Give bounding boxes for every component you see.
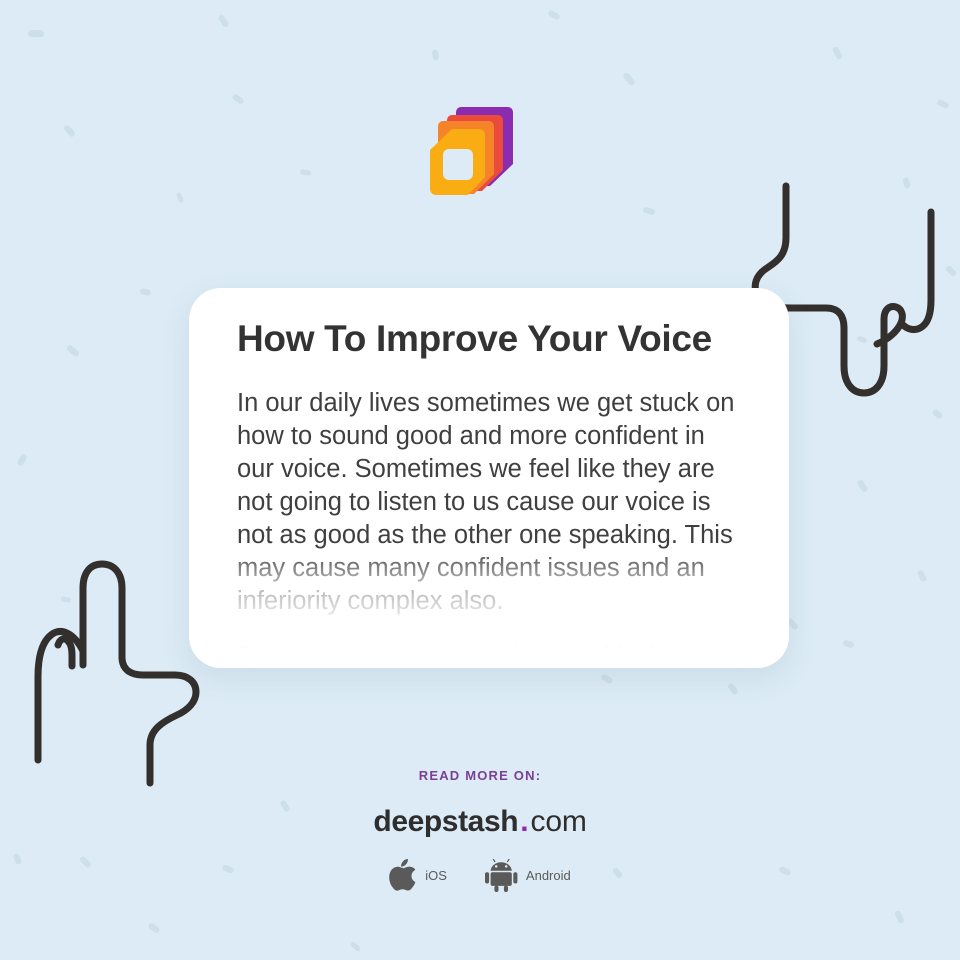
- confetti-speck: [600, 673, 613, 684]
- confetti-speck: [176, 192, 184, 203]
- ios-store-badge[interactable]: iOS: [389, 859, 447, 892]
- confetti-speck: [917, 569, 928, 582]
- confetti-speck: [350, 941, 362, 952]
- apple-icon: [389, 859, 417, 892]
- confetti-speck: [842, 639, 854, 648]
- story-card[interactable]: How To Improve Your Voice In our daily l…: [189, 288, 789, 668]
- story-card-content: How To Improve Your Voice In our daily l…: [189, 288, 789, 668]
- story-paragraph-1: In our daily lives sometimes we get stuc…: [237, 387, 745, 618]
- confetti-speck: [832, 46, 844, 60]
- confetti-speck: [856, 335, 867, 343]
- deepstash-logo-icon: [428, 104, 520, 200]
- confetti-speck: [61, 596, 72, 603]
- ios-label: iOS: [425, 868, 447, 883]
- footer: READ MORE ON: deepstash.com iOS: [0, 768, 960, 892]
- confetti-speck: [432, 49, 440, 61]
- confetti-speck: [139, 288, 151, 296]
- confetti-speck: [945, 265, 958, 278]
- confetti-speck: [16, 453, 27, 466]
- confetti-speck: [547, 9, 560, 20]
- confetti-speck: [642, 207, 655, 216]
- confetti-speck: [66, 344, 81, 358]
- confetti-speck: [622, 72, 636, 87]
- page-title: How To Improve Your Voice: [237, 318, 745, 361]
- confetti-speck: [902, 177, 911, 189]
- poster-canvas: How To Improve Your Voice In our daily l…: [0, 0, 960, 960]
- store-badges: iOS Android: [0, 859, 960, 892]
- confetti-speck: [894, 910, 905, 924]
- confetti-speck: [856, 479, 868, 493]
- confetti-speck: [727, 682, 739, 695]
- story-paragraph-2: But it's ironic to see that in a world w…: [237, 640, 745, 668]
- android-label: Android: [526, 868, 571, 883]
- confetti-speck: [217, 14, 229, 28]
- android-icon: [485, 859, 518, 892]
- read-more-label: READ MORE ON:: [0, 768, 960, 783]
- confetti-speck: [931, 408, 943, 420]
- android-store-badge[interactable]: Android: [485, 859, 571, 892]
- confetti-speck: [300, 169, 312, 176]
- wordmark-tld: com: [531, 805, 587, 838]
- wordmark-name: deepstash: [373, 805, 518, 838]
- confetti-speck: [936, 99, 949, 110]
- deepstash-wordmark[interactable]: deepstash.com: [0, 807, 960, 837]
- wordmark-dot: .: [518, 805, 530, 838]
- confetti-speck: [63, 124, 76, 138]
- confetti-speck: [231, 93, 244, 105]
- confetti-speck: [147, 922, 160, 934]
- confetti-speck: [28, 30, 44, 38]
